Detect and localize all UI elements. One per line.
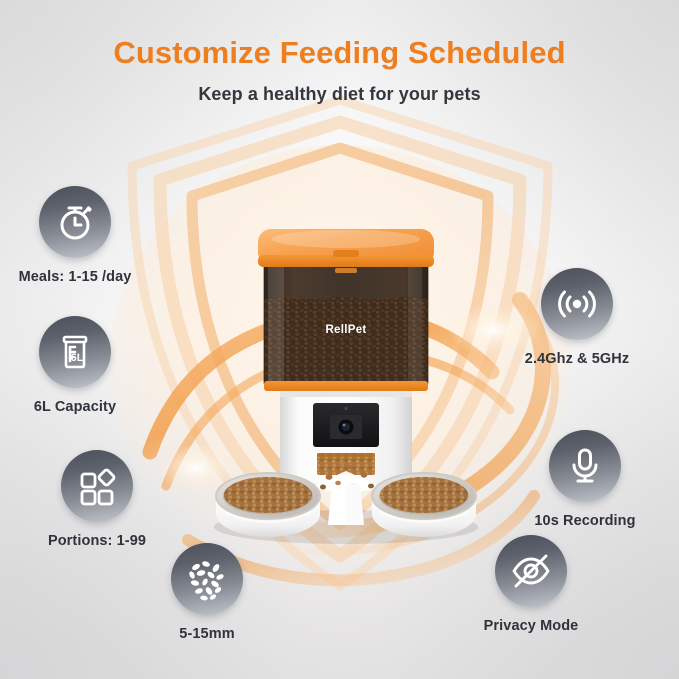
- feature-recording-label: 10s Recording: [500, 513, 670, 529]
- feature-capacity-label: 6L Capacity: [0, 399, 160, 415]
- feature-portions-badge: [61, 450, 133, 522]
- wifi-icon: [555, 282, 599, 326]
- blocks-icon: [75, 464, 119, 508]
- feature-meals-label: Meals: 1-15 /day: [0, 269, 160, 285]
- bowl-right: [372, 473, 476, 537]
- feature-kibble-size[interactable]: 5-15mm: [122, 543, 292, 642]
- feature-privacy-badge: [495, 535, 567, 607]
- feature-kibble-size-badge: [171, 543, 243, 615]
- product-body: [280, 391, 412, 483]
- lid-latch: [333, 250, 359, 257]
- bowl-left: [216, 473, 320, 537]
- kibble-icon: [184, 556, 230, 602]
- feature-privacy-label: Privacy Mode: [446, 618, 616, 634]
- container-icon: 6L: [53, 330, 97, 374]
- feature-meals-badge: [39, 186, 111, 258]
- page-subtitle: Keep a healthy diet for your pets: [0, 84, 679, 105]
- infographic-canvas: Customize Feeding Scheduled Keep a healt…: [0, 0, 679, 679]
- header-block: Customize Feeding Scheduled Keep a healt…: [0, 36, 679, 105]
- product-lid: [258, 229, 434, 273]
- feature-meals[interactable]: Meals: 1-15 /day: [0, 186, 160, 285]
- eye-off-icon: [508, 548, 554, 594]
- page-title: Customize Feeding Scheduled: [0, 36, 679, 70]
- product-image-pet-feeder: RellPet: [196, 215, 496, 545]
- feature-wifi[interactable]: 2.4Ghz & 5GHz: [492, 268, 662, 367]
- feature-portions[interactable]: Portions: 1-99: [12, 450, 182, 549]
- feature-privacy[interactable]: Privacy Mode: [446, 535, 616, 634]
- camera-led: [345, 407, 348, 410]
- product-hopper: RellPet: [264, 259, 428, 391]
- feature-wifi-badge: [541, 268, 613, 340]
- feature-kibble-size-label: 5-15mm: [122, 626, 292, 642]
- feature-capacity[interactable]: 6L 6L Capacity: [0, 316, 160, 415]
- stopwatch-icon: [53, 200, 97, 244]
- lid-latch-tab: [335, 268, 357, 273]
- product-brand-label: RellPet: [325, 324, 366, 336]
- microphone-icon: [563, 444, 607, 488]
- feature-wifi-label: 2.4Ghz & 5GHz: [492, 351, 662, 367]
- feature-recording-badge: [549, 430, 621, 502]
- container-icon-text: 6L: [71, 352, 84, 364]
- feature-capacity-badge: 6L: [39, 316, 111, 388]
- feature-recording[interactable]: 10s Recording: [500, 430, 670, 529]
